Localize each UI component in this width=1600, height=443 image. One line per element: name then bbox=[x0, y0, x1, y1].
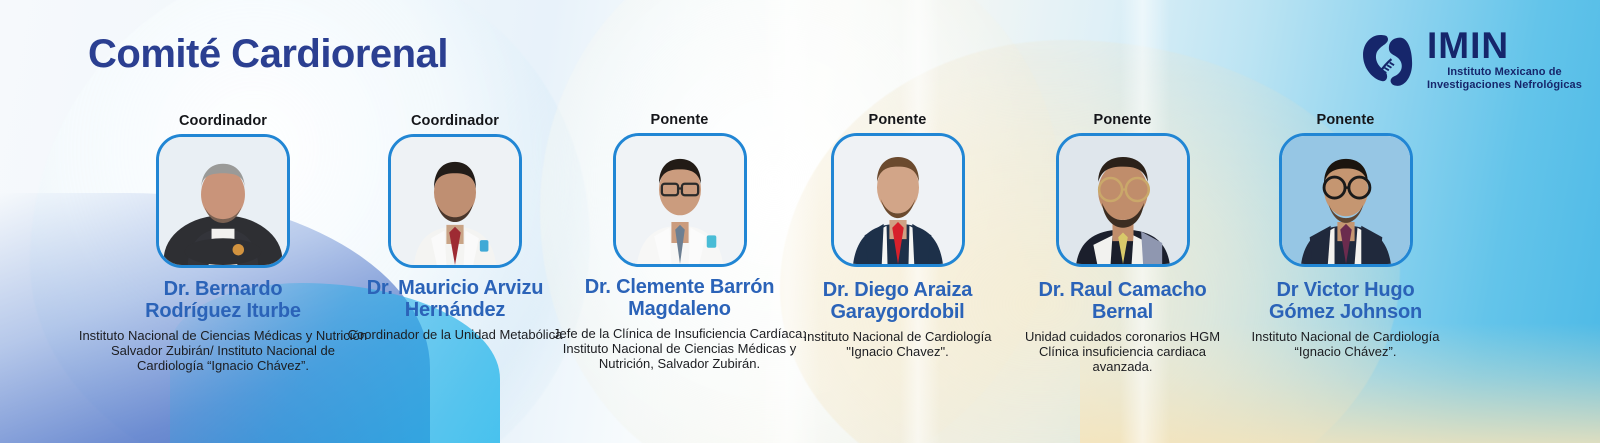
person-role: Ponente bbox=[795, 112, 1000, 128]
person-photo-frame bbox=[1279, 133, 1413, 267]
person-affiliation: Instituto Nacional de Cardiología "Ignac… bbox=[795, 329, 1000, 360]
person-photo-frame bbox=[613, 133, 747, 267]
logo-subtitle-line1: Instituto Mexicano de bbox=[1447, 66, 1562, 78]
logo-acronym: IMIN bbox=[1427, 28, 1582, 63]
imin-logo: IMIN Instituto Mexicano de Investigacion… bbox=[1357, 28, 1582, 92]
person-name-line1: Dr. Bernardo bbox=[164, 278, 283, 300]
person-role: Coordinador bbox=[330, 113, 580, 129]
person-photo-frame bbox=[156, 134, 290, 268]
person-card[interactable]: Ponente Dr. Clemente Barrón Magdaleno Je… bbox=[552, 112, 807, 372]
person-name-line2: Magdaleno bbox=[628, 298, 731, 320]
person-affiliation: Coordinador de la Unidad Metabólica bbox=[330, 327, 580, 342]
person-name-line2: Bernal bbox=[1092, 301, 1153, 323]
person-affiliation: Jefe de la Clínica de Insuficiencia Card… bbox=[552, 326, 807, 372]
person-photo-frame bbox=[831, 133, 965, 267]
page-title: Comité Cardiorenal bbox=[88, 32, 448, 77]
person-role: Coordinador bbox=[78, 113, 368, 129]
person-card[interactable]: Coordinador Dr. Mauricio Arvizu Hernánde… bbox=[330, 113, 580, 342]
person-photo-frame bbox=[388, 134, 522, 268]
person-affiliation: Unidad cuidados coronarios HGM Clínica i… bbox=[1020, 329, 1225, 375]
person-affiliation: Instituto Nacional de Ciencias Médicas y… bbox=[78, 328, 368, 374]
portrait-image bbox=[1059, 136, 1187, 264]
person-name-line1: Dr. Diego Araiza bbox=[823, 279, 972, 301]
person-card[interactable]: Ponente Dr. Raul Camacho Bernal U bbox=[1020, 112, 1225, 375]
logo-subtitle-line2: Investigaciones Nefrológicas bbox=[1427, 79, 1582, 91]
banner-background: Comité Cardiorenal IMIN Instituto Mexica… bbox=[0, 0, 1600, 443]
person-card[interactable]: Ponente Dr. Diego Araiza Garaygordobil I… bbox=[795, 112, 1000, 359]
person-role: Ponente bbox=[1243, 112, 1448, 128]
portrait-image bbox=[1282, 136, 1410, 264]
person-name-line2: Rodríguez Iturbe bbox=[145, 300, 301, 322]
person-role: Ponente bbox=[1020, 112, 1225, 128]
person-name-line2: Hernández bbox=[405, 299, 505, 321]
person-photo-frame bbox=[1056, 133, 1190, 267]
person-name-line1: Dr Victor Hugo bbox=[1277, 279, 1415, 301]
portrait-image bbox=[391, 137, 519, 265]
person-role: Ponente bbox=[552, 112, 807, 128]
person-name-line2: Garaygordobil bbox=[830, 301, 964, 323]
person-name-line2: Gómez Johnson bbox=[1269, 301, 1422, 323]
portrait-image bbox=[834, 136, 962, 264]
person-card[interactable]: Ponente Dr Victor Hugo Gómez John bbox=[1243, 112, 1448, 359]
person-card[interactable]: Coordinador Dr. Bernardo Rodríguez Iturb… bbox=[78, 113, 368, 374]
person-name-line1: Dr. Clemente Barrón bbox=[585, 276, 775, 298]
person-affiliation: Instituto Nacional de Cardiología “Ignac… bbox=[1243, 329, 1448, 360]
portrait-image bbox=[159, 137, 287, 265]
kidney-icon bbox=[1357, 32, 1419, 88]
portrait-image bbox=[616, 136, 744, 264]
person-name-line1: Dr. Raul Camacho bbox=[1039, 279, 1207, 301]
person-name-line1: Dr. Mauricio Arvizu bbox=[367, 277, 544, 299]
